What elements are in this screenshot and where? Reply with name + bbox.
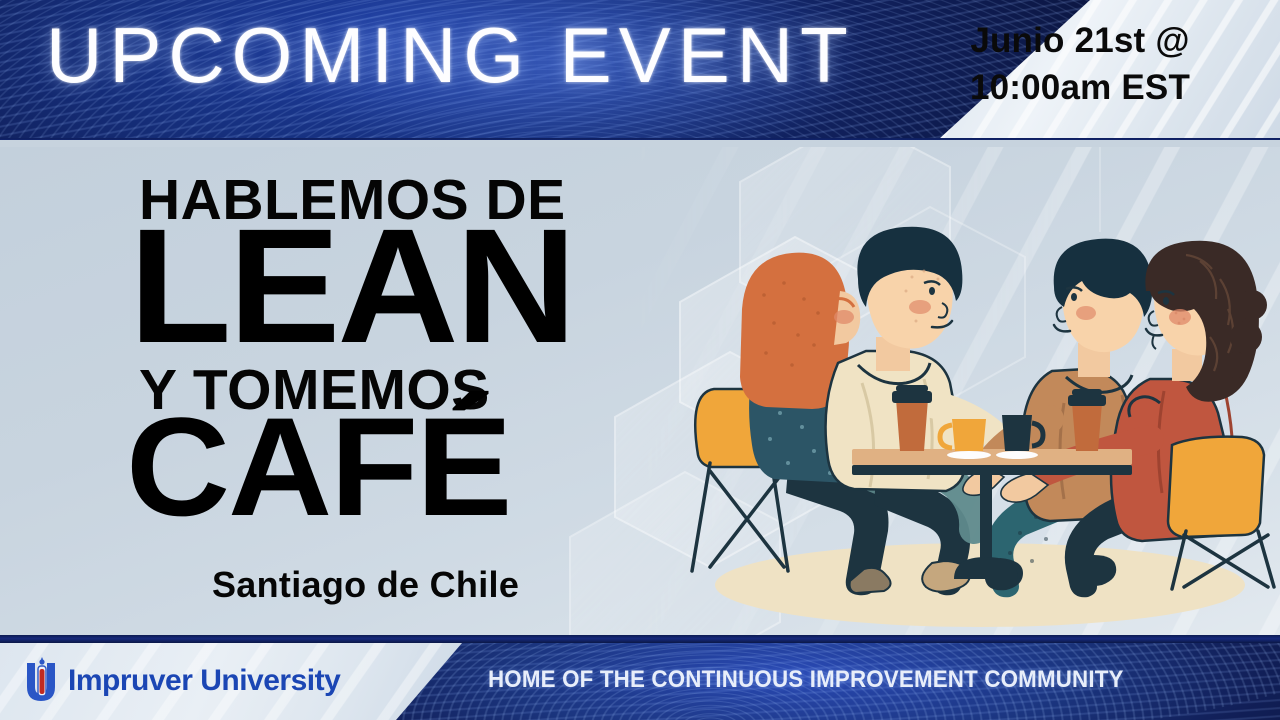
banner-body: HABLEMOS DE LEAN Y TOMEMOS CAFÉ Santiago…: [0, 147, 1280, 635]
brand-lockup[interactable]: Impruver University: [22, 657, 340, 705]
impruver-logo-icon: [22, 657, 64, 705]
event-location: Santiago de Chile: [212, 567, 519, 603]
event-datetime: Junio 21st @ 10:00am EST: [920, 18, 1240, 112]
footer-top-rule: [0, 635, 1280, 643]
upcoming-event-label: UPCOMING EVENT: [46, 16, 855, 94]
event-date-line: Junio 21st @: [920, 18, 1240, 65]
banner-footer: Impruver University HOME OF THE CONTINUO…: [0, 643, 1280, 720]
brand-name: Impruver University: [68, 666, 340, 696]
four-people-coffee-illustration: [680, 187, 1280, 635]
footer-tagline: HOME OF THE CONTINUOUS IMPROVEMENT COMMU…: [488, 668, 1204, 692]
headline-line-4: CAFÉ: [126, 397, 510, 537]
header-bottom-rule: [0, 138, 1280, 140]
event-banner: UPCOMING EVENT Junio 21st @ 10:00am EST: [0, 0, 1280, 720]
event-time-line: 10:00am EST: [920, 65, 1240, 112]
banner-header: UPCOMING EVENT Junio 21st @ 10:00am EST: [0, 0, 1280, 140]
headline-line-2: LEAN: [129, 204, 574, 367]
